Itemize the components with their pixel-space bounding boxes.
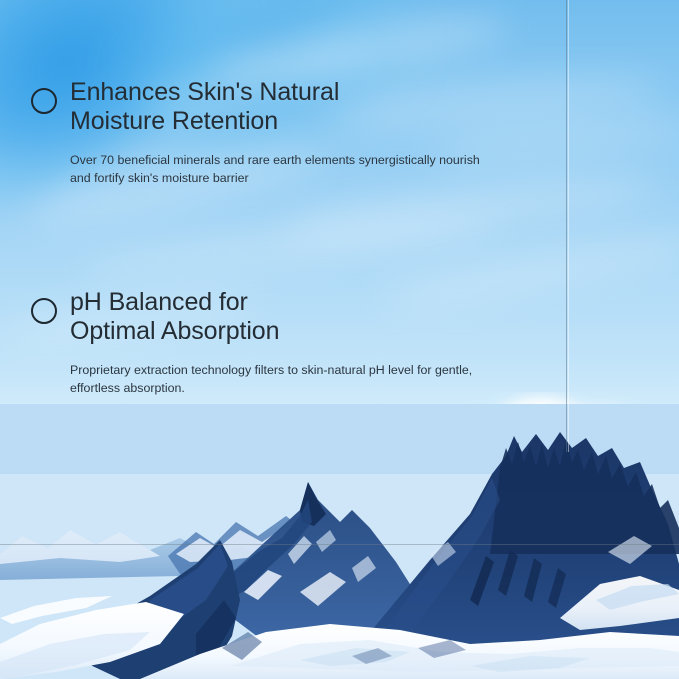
horizontal-guide-line xyxy=(0,544,679,545)
feature-body-text: Over 70 beneficial minerals and rare ear… xyxy=(0,136,560,187)
feature-heading-row: Enhances Skin's Natural Moisture Retenti… xyxy=(0,78,560,136)
feature-heading: pH Balanced for Optimal Absorption xyxy=(0,288,560,346)
product-feature-poster: Enhances Skin's Natural Moisture Retenti… xyxy=(0,0,679,679)
feature-block-ph-balanced: pH Balanced for Optimal Absorption Propr… xyxy=(0,288,560,397)
feature-body-text: Proprietary extraction technology filter… xyxy=(0,346,560,397)
vertical-guide-line xyxy=(566,0,567,452)
feature-heading: Enhances Skin's Natural Moisture Retenti… xyxy=(0,78,560,136)
circle-outline-icon xyxy=(31,88,57,114)
mountain-range-photo xyxy=(0,404,679,679)
vertical-guide-line-highlight xyxy=(568,0,569,452)
feature-heading-row: pH Balanced for Optimal Absorption xyxy=(0,288,560,346)
circle-outline-icon xyxy=(31,298,57,324)
feature-block-moisture-retention: Enhances Skin's Natural Moisture Retenti… xyxy=(0,78,560,187)
